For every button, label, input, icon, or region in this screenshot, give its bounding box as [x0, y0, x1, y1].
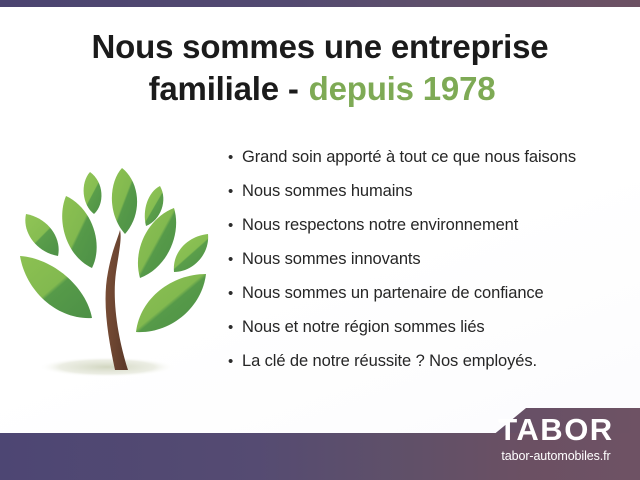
- bullet-marker-icon: •: [228, 184, 242, 199]
- logo-wordmark: TABOR: [478, 414, 634, 446]
- list-item: • La clé de notre réussite ? Nos employé…: [228, 352, 628, 386]
- value-bullet-list: • Grand soin apporté à tout ce que nous …: [228, 148, 628, 386]
- list-item: • Nous et notre région sommes liés: [228, 318, 628, 352]
- list-item-label: Grand soin apporté à tout ce que nous fa…: [242, 148, 576, 167]
- bullet-marker-icon: •: [228, 150, 242, 165]
- slide-canvas: Nous sommes une entreprise familiale -de…: [0, 0, 640, 480]
- title-line-2: familiale -depuis 1978: [0, 68, 640, 110]
- title-line-2-green: depuis 1978: [309, 70, 496, 107]
- top-accent-bar: [0, 0, 640, 7]
- page-title: Nous sommes une entreprise familiale -de…: [0, 26, 640, 110]
- logo-tagline: tabor-automobiles.fr: [478, 449, 634, 463]
- bullet-marker-icon: •: [228, 286, 242, 301]
- tree-shadow: [39, 357, 175, 377]
- list-item: • Nous sommes humains: [228, 182, 628, 216]
- leaf-right-upper: [138, 208, 176, 278]
- leaf-far-left: [25, 214, 58, 256]
- list-item: • Nous sommes un partenaire de confiance: [228, 284, 628, 318]
- bullet-marker-icon: •: [228, 320, 242, 335]
- bullet-marker-icon: •: [228, 252, 242, 267]
- title-line-1: Nous sommes une entreprise: [0, 26, 640, 68]
- title-line-2-black: familiale -: [149, 70, 299, 107]
- list-item-label: Nous sommes innovants: [242, 250, 421, 269]
- leaf-top-center: [112, 168, 137, 234]
- leaf-lower-left: [20, 256, 92, 318]
- bullet-marker-icon: •: [228, 218, 242, 233]
- family-tree-illustration: [12, 152, 224, 387]
- list-item: • Nous sommes innovants: [228, 250, 628, 284]
- list-item-label: Nous respectons notre environnement: [242, 216, 518, 235]
- leaf-far-right: [174, 234, 208, 272]
- leaf-upper-left-small: [84, 172, 102, 214]
- list-item-label: Nous et notre région sommes liés: [242, 318, 485, 337]
- list-item-label: La clé de notre réussite ? Nos employés.: [242, 352, 537, 371]
- list-item-label: Nous sommes un partenaire de confiance: [242, 284, 544, 303]
- tabor-logo: TABOR tabor-automobiles.fr: [478, 414, 634, 463]
- bullet-marker-icon: •: [228, 354, 242, 369]
- list-item: • Nous respectons notre environnement: [228, 216, 628, 250]
- list-item-label: Nous sommes humains: [242, 182, 413, 201]
- leaf-lower-right: [136, 274, 206, 332]
- list-item: • Grand soin apporté à tout ce que nous …: [228, 148, 628, 182]
- tree-trunk: [106, 230, 128, 370]
